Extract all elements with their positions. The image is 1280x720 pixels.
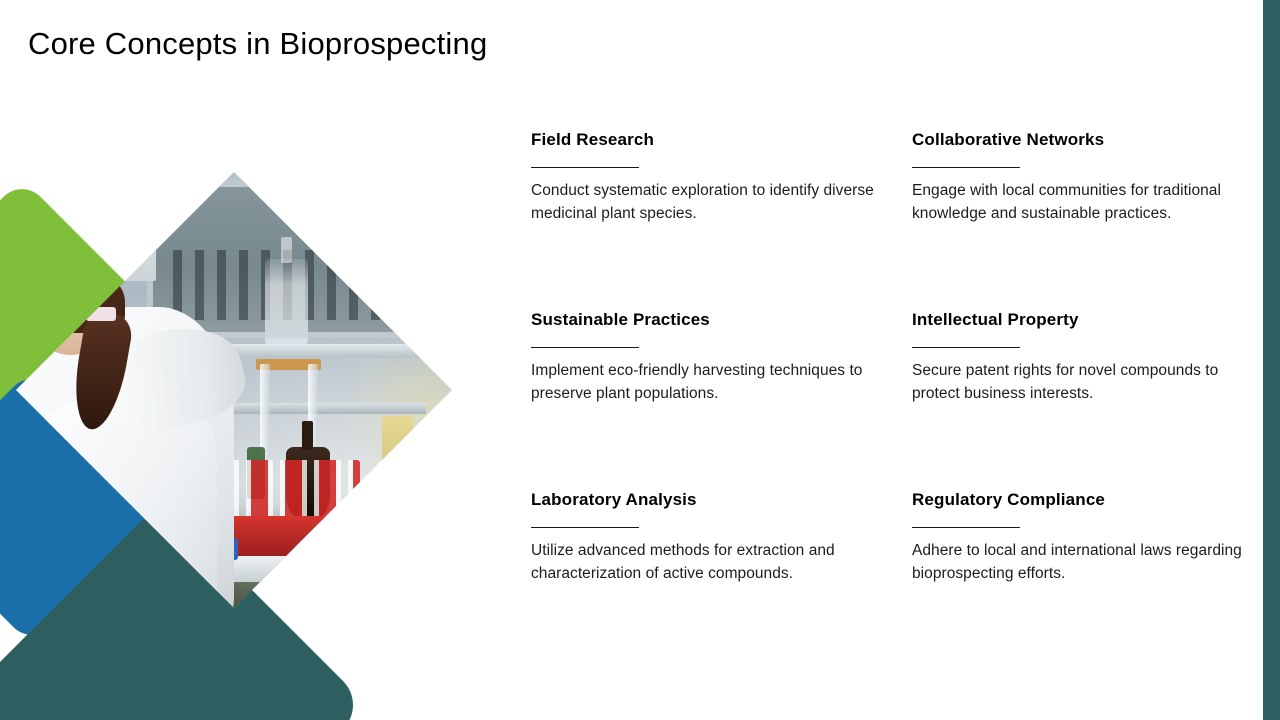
concept-card-collaborative-networks: Collaborative Networks Engage with local… [912, 130, 1261, 310]
concept-title: Collaborative Networks [912, 130, 1243, 150]
concept-title: Laboratory Analysis [531, 490, 894, 510]
concept-title: Intellectual Property [912, 310, 1243, 330]
right-edge-accent-bar [1263, 0, 1280, 720]
page-title: Core Concepts in Bioprospecting [28, 26, 487, 62]
concepts-grid: Field Research Conduct systematic explor… [531, 130, 1261, 585]
concept-body: Utilize advanced methods for extraction … [531, 540, 894, 585]
concept-card-intellectual-property: Intellectual Property Secure patent righ… [912, 310, 1261, 490]
concept-divider [912, 527, 1020, 528]
photo-yellow-rack [382, 416, 413, 490]
concept-card-sustainable-practices: Sustainable Practices Implement eco-frie… [531, 310, 912, 490]
concept-body: Engage with local communities for tradit… [912, 180, 1243, 225]
concept-body: Adhere to local and international laws r… [912, 540, 1243, 585]
concept-body: Secure patent rights for novel compounds… [912, 360, 1243, 405]
concept-card-regulatory-compliance: Regulatory Compliance Adhere to local an… [912, 490, 1261, 585]
concept-divider [912, 347, 1020, 348]
concept-title: Regulatory Compliance [912, 490, 1243, 510]
concept-card-laboratory-analysis: Laboratory Analysis Utilize advanced met… [531, 490, 912, 585]
concept-divider [531, 347, 639, 348]
slide: Core Concepts in Bioprospecting [0, 0, 1280, 720]
concept-title: Sustainable Practices [531, 310, 894, 330]
concept-divider [531, 167, 639, 168]
concept-body: Implement eco-friendly harvesting techni… [531, 360, 894, 405]
photo-cabinet-frame [147, 181, 417, 338]
concept-card-field-research: Field Research Conduct systematic explor… [531, 130, 912, 310]
photo-wall-panel [116, 176, 155, 281]
concept-title: Field Research [531, 130, 894, 150]
concept-divider [912, 167, 1020, 168]
concept-divider [531, 527, 639, 528]
concept-body: Conduct systematic exploration to identi… [531, 180, 894, 225]
